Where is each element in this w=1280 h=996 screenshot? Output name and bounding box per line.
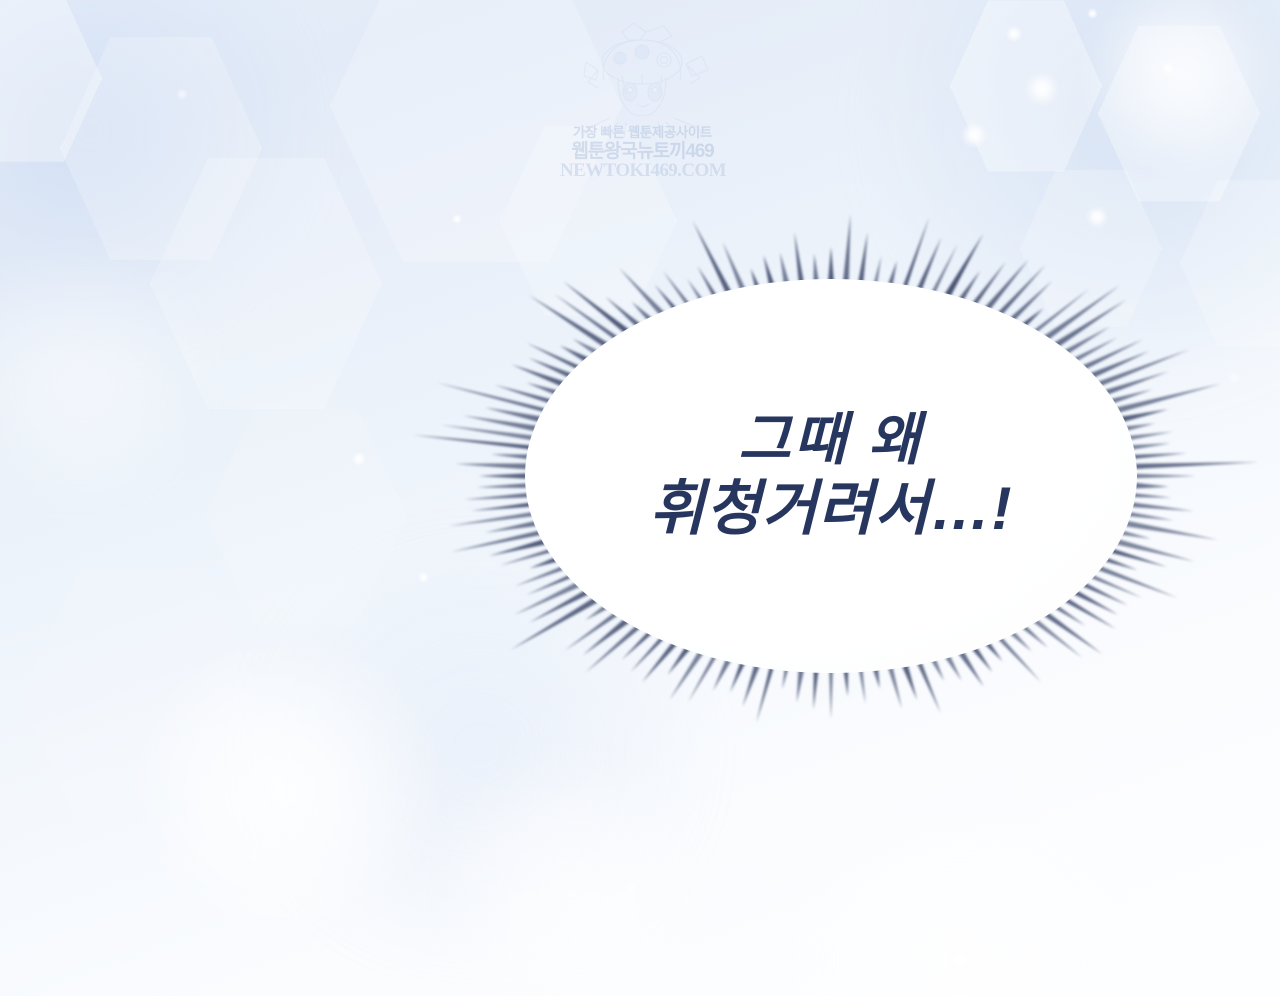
hexagon-bokeh xyxy=(900,810,1132,996)
speech-line-2: 휘청거려서…! xyxy=(650,477,1013,542)
hexagon-bokeh xyxy=(20,560,262,837)
starburst-spike xyxy=(829,665,833,719)
light-glow xyxy=(760,820,1160,996)
speech-line-1: 그때 왜 xyxy=(738,410,923,472)
speech-bubble-text: 그때 왜 휘청거려서…! xyxy=(525,279,1137,673)
starburst-spike xyxy=(1126,462,1258,469)
watermark-mascot-icon xyxy=(560,18,725,138)
sparkle-dot xyxy=(352,452,366,466)
hexagon-bokeh xyxy=(950,0,1102,177)
comic-panel: 가장 빠른 웹툰제공사이트 웹툰왕국뉴토끼469 NEWTOKI469.COM … xyxy=(0,0,1280,996)
hexagon-bokeh xyxy=(205,400,407,632)
sparkle-dot xyxy=(624,882,637,895)
hexagon-bokeh xyxy=(0,0,102,167)
watermark-text-block: 가장 빠른 웹툰제공사이트 웹툰왕국뉴토끼469 NEWTOKI469.COM xyxy=(560,126,725,182)
sparkle-dot xyxy=(1162,62,1175,75)
sparkle-dot xyxy=(961,122,987,148)
sparkle-dot xyxy=(1087,8,1098,19)
hexagon-bokeh xyxy=(150,150,382,417)
starburst-speech-bubble: 그때 왜 휘청거려서…! xyxy=(385,175,1275,795)
starburst-spike xyxy=(455,463,536,470)
site-watermark: 가장 빠른 웹툰제공사이트 웹툰왕국뉴토끼469 NEWTOKI469.COM xyxy=(560,18,725,193)
sparkle-dot xyxy=(1025,72,1059,106)
sparkle-dot xyxy=(1006,26,1022,42)
light-glow xyxy=(0,250,220,510)
hexagon-bokeh xyxy=(60,30,262,267)
light-glow xyxy=(1080,0,1280,170)
sparkle-dot xyxy=(176,88,188,100)
background-tint-blob xyxy=(0,0,300,340)
starburst-spike xyxy=(842,214,850,287)
watermark-line-1: 가장 빠른 웹툰제공사이트 xyxy=(560,126,725,141)
light-glow xyxy=(420,760,720,996)
watermark-line-2: 웹툰왕국뉴토끼469 xyxy=(560,142,725,163)
hexagon-bokeh xyxy=(420,780,682,996)
